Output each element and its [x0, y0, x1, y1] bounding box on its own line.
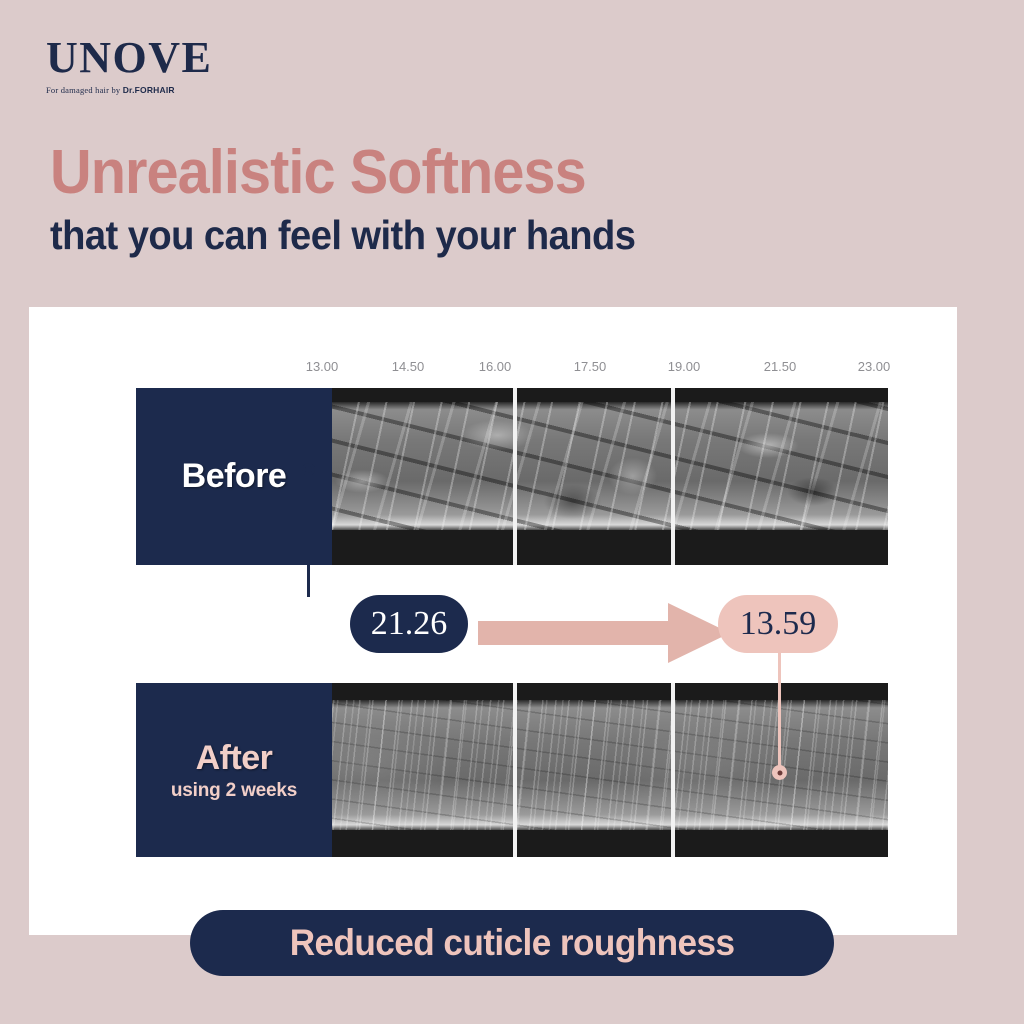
row-label-before: Before [136, 388, 332, 565]
brand-tagline-partner: Dr.FORHAIR [123, 85, 175, 95]
conclusion-banner-text: Reduced cuticle roughness [290, 922, 735, 964]
headline-secondary: that you can feel with your hands [50, 214, 635, 257]
sem-divider-3 [513, 683, 517, 857]
axis-tick-6: 23.00 [858, 359, 891, 374]
row-label-after: After using 2 weeks [136, 683, 332, 857]
row-label-after-text: After [196, 739, 273, 778]
axis-tick-4: 19.00 [668, 359, 701, 374]
value-badge-before[interactable]: 21.26 [350, 595, 468, 653]
sem-divider-1 [513, 388, 517, 565]
axis-tick-0: 13.00 [306, 359, 339, 374]
sem-row-before: Before [137, 388, 888, 565]
brand-name: UNOVE [46, 36, 212, 80]
axis-tick-2: 16.00 [479, 359, 512, 374]
headline-primary: Unrealistic Softness [50, 140, 586, 205]
sem-divider-4 [671, 683, 675, 857]
conclusion-banner: Reduced cuticle roughness [190, 910, 834, 976]
row-label-before-text: Before [182, 457, 287, 496]
sem-divider-2 [671, 388, 675, 565]
value-badge-after[interactable]: 13.59 [718, 595, 838, 653]
axis-tick-3: 17.50 [574, 359, 607, 374]
improvement-arrow [478, 603, 730, 668]
sem-row-after: After using 2 weeks [137, 683, 888, 857]
axis-tick-5: 21.50 [764, 359, 797, 374]
brand-tagline: For damaged hair by Dr.FORHAIR [46, 85, 212, 95]
row-label-after-sub: using 2 weeks [171, 780, 297, 802]
brand-logo: UNOVE For damaged hair by Dr.FORHAIR [46, 36, 212, 95]
brand-tagline-prefix: For damaged hair by [46, 85, 123, 95]
comparison-card: 13.00 14.50 16.00 17.50 19.00 21.50 23.0… [29, 307, 957, 935]
measurement-axis: 13.00 14.50 16.00 17.50 19.00 21.50 23.0… [29, 359, 957, 379]
axis-tick-1: 14.50 [392, 359, 425, 374]
infographic-page: { "brand": { "name": "UNOVE", "tagline_p… [0, 0, 1024, 1024]
